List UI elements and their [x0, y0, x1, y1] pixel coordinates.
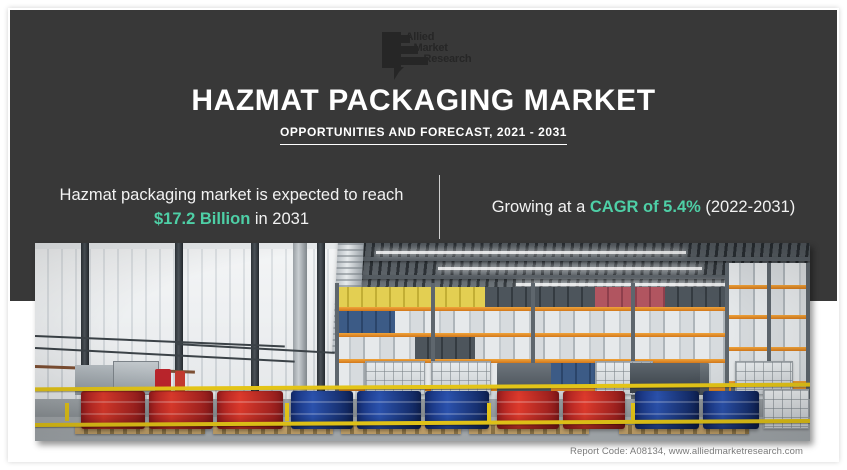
allied-market-research-logo-icon: Allied Market Research	[382, 32, 466, 76]
photo-pallet-goods-dark	[630, 363, 700, 393]
photo-drum-rib	[217, 401, 283, 403]
photo-drum-rib	[563, 413, 625, 415]
photo-drum-rib	[425, 401, 489, 403]
photo-drum-rib	[497, 413, 559, 415]
photo-drum-rib	[703, 413, 759, 415]
photo-pillar-5	[317, 243, 325, 393]
photo-light-strip-1	[376, 251, 686, 254]
photo-rail-post-2	[285, 403, 289, 421]
stat-cagr: Growing at a CAGR of 5.4% (2022-2031)	[440, 195, 847, 219]
logo-word-market: Market	[406, 43, 472, 54]
photo-drum-rib	[497, 401, 559, 403]
logo-bubble-tail	[394, 67, 404, 80]
photo-shelf-goods-red	[595, 287, 665, 307]
stat-cagr-prefix: Growing at a	[492, 198, 590, 216]
photo-pillar-3	[251, 243, 259, 393]
photo-ceiling-beam-1	[345, 257, 810, 261]
photo-shelf-goods-dark-3	[415, 337, 475, 359]
hero-image-warehouse	[35, 243, 810, 441]
logo-bar-3	[394, 57, 428, 65]
stat-market-size-value: $17.2 Billion	[154, 210, 250, 228]
stat-market-size-prefix: Hazmat packaging market is expected to r…	[60, 186, 404, 204]
photo-drum-rib	[149, 401, 213, 403]
photo-rack-upright-1	[335, 283, 339, 401]
brand-logo: Allied Market Research	[10, 32, 837, 80]
photo-drum-rib	[357, 401, 421, 403]
photo-drum-rib	[425, 413, 489, 415]
footer-report-code: Report Code: A08134, www.alliedmarketres…	[0, 446, 847, 457]
photo-ibc-1	[365, 361, 425, 395]
photo-drum-rib	[635, 413, 699, 415]
photo-drum-rib	[357, 413, 421, 415]
logo-bar-1	[394, 35, 410, 43]
photo-drum-rib	[81, 401, 145, 403]
photo-drum-rib	[703, 401, 759, 403]
photo-ibc-2	[431, 361, 491, 395]
photo-drum-rib	[81, 413, 145, 415]
logo-word-allied: Allied	[406, 32, 472, 43]
page-subtitle: OPPORTUNITIES AND FORECAST, 2021 - 2031	[280, 125, 567, 145]
logo-bubble-shape	[382, 32, 401, 68]
logo-wordmark: Allied Market Research	[406, 32, 472, 65]
stat-market-size-suffix: in 2031	[250, 210, 309, 228]
stat-cagr-suffix: (2022-2031)	[701, 198, 795, 216]
photo-pillar-4	[293, 243, 307, 395]
photo-shelf-goods-yellow	[335, 287, 485, 307]
stats-row: Hazmat packaging market is expected to r…	[20, 168, 847, 246]
photo-ibc-grid-2	[432, 362, 490, 394]
stat-cagr-value: CAGR of 5.4%	[590, 198, 701, 216]
photo-rack-upright-r1	[725, 263, 729, 403]
logo-bar-2	[394, 46, 418, 54]
photo-rail-post-3	[487, 403, 491, 421]
photo-drum-rib	[291, 401, 353, 403]
photo-drum-rib	[563, 401, 625, 403]
photo-rail-post-4	[631, 403, 635, 421]
photo-shelf-goods-dark-1	[485, 287, 595, 307]
page-title: HAZMAT PACKAGING MARKET	[10, 83, 837, 119]
photo-drum-rib	[217, 413, 283, 415]
photo-rail-post-1	[65, 403, 69, 421]
photo-drum-rib	[149, 413, 213, 415]
photo-drum-rib	[635, 401, 699, 403]
logo-word-research: Research	[406, 54, 472, 65]
photo-drum-rib	[291, 413, 353, 415]
subtitle-wrapper: OPPORTUNITIES AND FORECAST, 2021 - 2031	[10, 123, 837, 145]
photo-light-strip-2	[438, 267, 702, 270]
infographic-page: Allied Market Research HAZMAT PACKAGING …	[0, 0, 847, 470]
photo-shelf-goods-blue-1	[335, 311, 395, 333]
stat-market-size: Hazmat packaging market is expected to r…	[20, 183, 439, 231]
